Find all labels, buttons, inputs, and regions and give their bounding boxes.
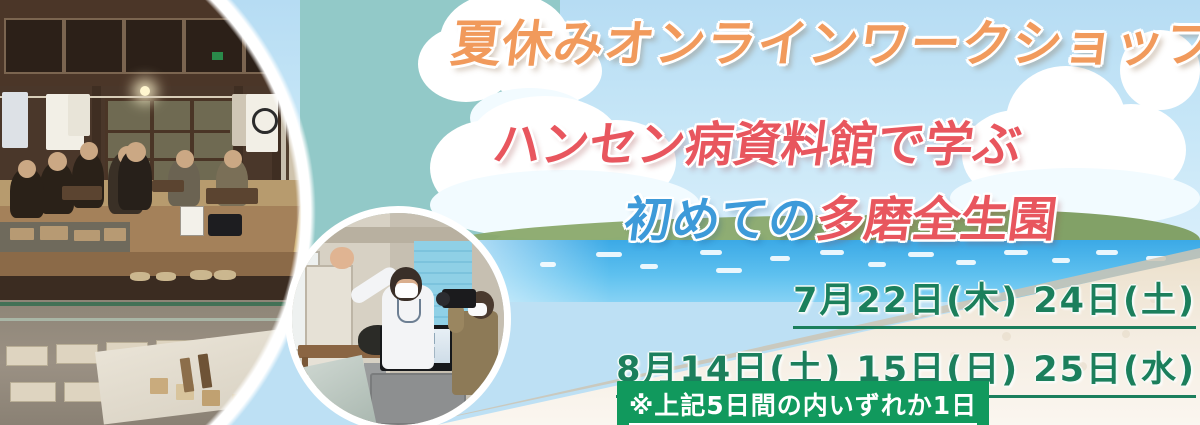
note-banner: ※上記5日間の内いずれか1日 [617,381,989,425]
workshop-scene-illustration [292,213,504,425]
date-line-july: 7月22日(木) 24日(土) [560,272,1200,329]
subtitle-line-2-red: 多磨全生園 [813,192,1060,248]
note-text: ※上記5日間の内いずれか1日 [629,386,977,425]
page-title: 夏休みオンラインワークショップ [448,4,1200,76]
inset-photo-online-workshop [292,213,504,425]
dates-list: 7月22日(木) 24日(土) 8月14日(土) 15日(日) 25日(水) [560,272,1200,398]
subtitle-line-2: 初めての多磨全生園 [621,180,1062,250]
workshop-poster-banner: 夏休みオンラインワークショップ ハンセン病資料館で学ぶ 初めての多磨全生園 7月… [0,0,1200,425]
subtitle-line-1: ハンセン病資料館で学ぶ [490,105,1027,175]
subtitle-line-2-blue: 初めての [621,192,820,248]
